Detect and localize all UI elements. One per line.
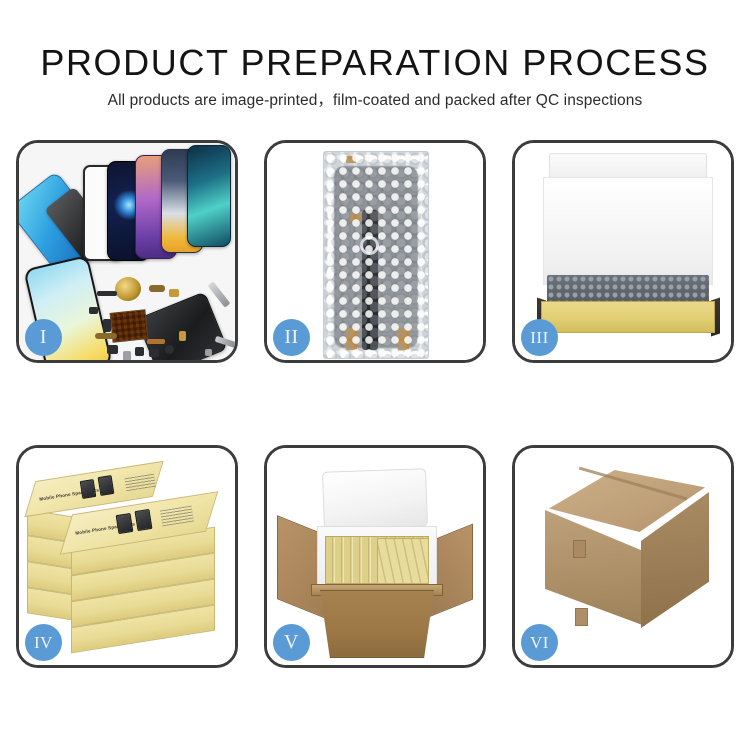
box-photo-graphic xyxy=(135,509,153,531)
process-step-panel-2: II xyxy=(264,140,486,363)
small-part-graphic xyxy=(169,289,179,297)
box-photo-graphic xyxy=(98,475,115,496)
box-photo-graphic xyxy=(116,513,134,534)
step-badge-2: II xyxy=(273,319,310,356)
tape-graphic xyxy=(346,328,357,350)
step-badge-4: IV xyxy=(25,624,62,661)
process-step-panel-3: III xyxy=(512,140,734,363)
small-part-graphic xyxy=(147,339,165,344)
step-badge-6: VI xyxy=(521,624,558,661)
camera-ring-graphic xyxy=(360,236,379,255)
step-badge-1: I xyxy=(25,319,62,356)
carton-tape-graphic xyxy=(573,540,586,558)
carton-body-graphic xyxy=(315,590,439,658)
small-part-graphic xyxy=(135,347,144,356)
packed-boxes-graphic xyxy=(377,538,429,584)
small-part-graphic xyxy=(165,345,174,354)
step-badge-3: III xyxy=(521,319,558,356)
small-part-graphic xyxy=(95,333,117,339)
step-4-image: Mobile Phone Spare Parts Mobile Phone Sp… xyxy=(19,448,235,665)
small-part-graphic xyxy=(149,285,165,292)
small-part-graphic xyxy=(103,319,111,332)
step-6-image: VI xyxy=(515,448,731,665)
process-step-panel-1: I xyxy=(16,140,238,363)
tape-graphic xyxy=(346,156,356,163)
small-part-graphic xyxy=(97,291,117,296)
carton-tape-graphic xyxy=(575,608,588,626)
process-step-panel-5: V xyxy=(264,445,486,668)
process-step-panel-6: VI xyxy=(512,445,734,668)
box-front-graphic xyxy=(541,301,715,333)
small-part-graphic xyxy=(107,345,118,354)
small-part-graphic xyxy=(179,331,186,341)
small-part-graphic xyxy=(123,351,131,360)
box-interior-graphic xyxy=(543,177,713,285)
styrofoam-lid-graphic xyxy=(322,468,428,530)
page-title: PRODUCT PREPARATION PROCESS xyxy=(0,42,750,84)
page-subtitle: All products are image-printed，film-coat… xyxy=(0,88,750,110)
product-preparation-infographic: PRODUCT PREPARATION PROCESS All products… xyxy=(0,0,750,750)
step-1-image: I xyxy=(19,143,235,360)
tape-graphic xyxy=(350,214,362,222)
step-5-image: V xyxy=(267,448,483,665)
small-part-graphic xyxy=(89,307,98,314)
small-part-graphic xyxy=(205,349,212,356)
tape-graphic xyxy=(398,328,409,350)
process-step-panel-4: Mobile Phone Spare Parts Mobile Phone Sp… xyxy=(16,445,238,668)
teal-phone-graphic xyxy=(187,145,231,247)
step-2-image: II xyxy=(267,143,483,360)
bubble-wrap-bag-graphic xyxy=(323,151,429,359)
box-photo-graphic xyxy=(80,479,97,499)
process-step-grid: I II xyxy=(16,140,734,672)
step-3-image: III xyxy=(515,143,731,360)
small-part-graphic xyxy=(149,349,159,357)
step-badge-5: V xyxy=(273,624,310,661)
flex-cable-graphic xyxy=(362,210,378,350)
